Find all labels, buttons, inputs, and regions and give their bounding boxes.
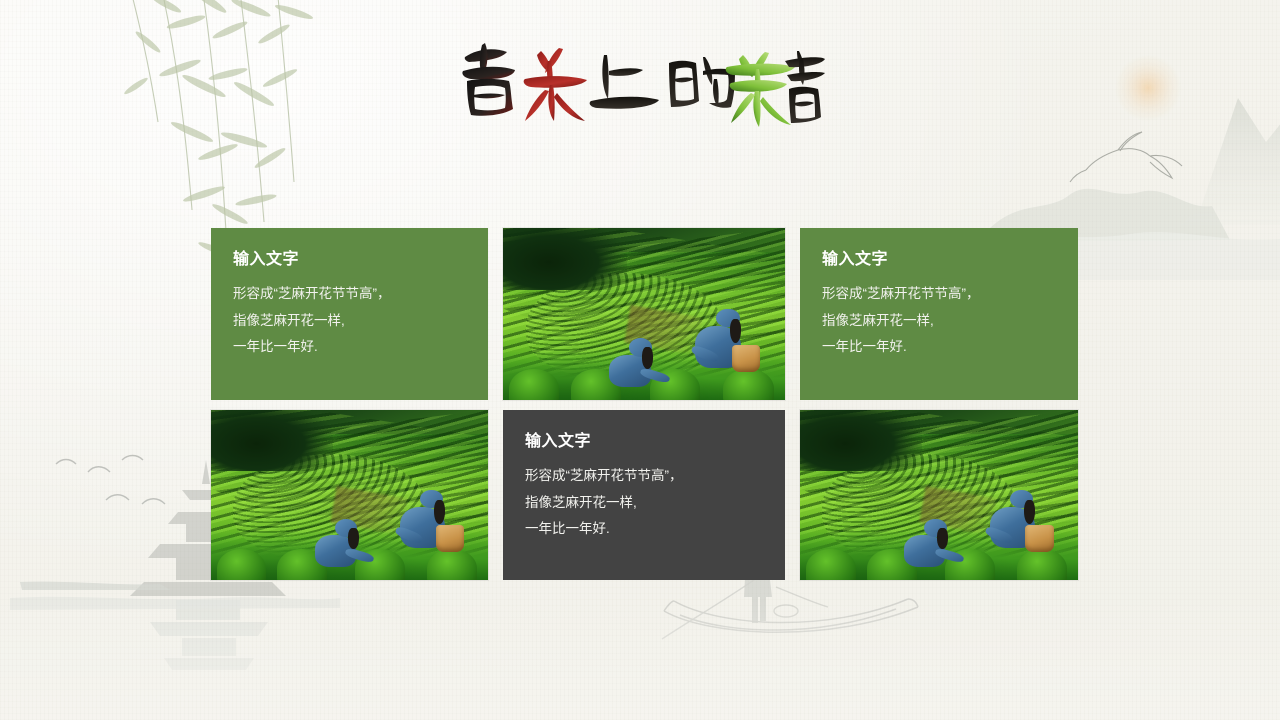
photo-forest-corner (503, 228, 627, 290)
card-1-line-1: 形容成“芝麻开花节节高”， (233, 281, 468, 307)
card-1-title: 输入文字 (233, 250, 468, 269)
bottom-mist-gradient (0, 600, 1280, 720)
photo-bush (217, 549, 267, 580)
card-3-title: 输入文字 (822, 250, 1058, 269)
card-5-line-3: 一年比一年好. (525, 516, 765, 542)
tea-picker-back (689, 307, 768, 379)
text-card-1[interactable]: 输入文字 形容成“芝麻开花节节高”， 指像芝麻开花一样, 一年比一年好. (211, 228, 488, 400)
content-card-grid: 输入文字 形容成“芝麻开花节节高”， 指像芝麻开花一样, 一年比一年好. 梯田茶… (211, 228, 1078, 580)
card-1-line-2: 指像芝麻开花一样, (233, 308, 468, 334)
slide-title: 舌尖上的茶香 (0, 28, 1280, 138)
card-1-line-3: 一年比一年好. (233, 334, 468, 360)
card-5-line-2: 指像芝麻开花一样, (525, 490, 765, 516)
tea-picker-front (900, 515, 967, 573)
text-card-3[interactable]: 输入文字 形容成“芝麻开花节节高”， 指像芝麻开花一样, 一年比一年好. (800, 228, 1078, 400)
card-3-line-1: 形容成“芝麻开花节节高”， (822, 281, 1058, 307)
text-card-5[interactable]: 输入文字 形容成“芝麻开花节节高”， 指像芝麻开花一样, 一年比一年好. (503, 410, 785, 580)
card-5-title: 输入文字 (525, 432, 765, 451)
card-3-line-3: 一年比一年好. (822, 334, 1058, 360)
card-3-line-2: 指像芝麻开花一样, (822, 308, 1058, 334)
tea-picker-back (983, 488, 1061, 559)
tea-field-photo-1[interactable]: 梯田茶园采茶图 (503, 228, 785, 400)
tea-picker-front (605, 335, 673, 393)
card-5-line-1: 形容成“芝麻开花节节高”， (525, 463, 765, 489)
slide-canvas: 舌尖上的茶香 (0, 0, 1280, 720)
photo-bush (806, 549, 856, 580)
tea-field-photo-2[interactable]: 梯田茶园采茶图 (211, 410, 488, 580)
tea-picker-back (394, 488, 472, 559)
photo-forest-corner (211, 410, 333, 471)
tea-picker-front (311, 515, 377, 573)
calligraphy-title-art (455, 35, 825, 131)
photo-forest-corner (800, 410, 922, 471)
tea-field-photo-3[interactable]: 梯田茶园采茶图 (800, 410, 1078, 580)
